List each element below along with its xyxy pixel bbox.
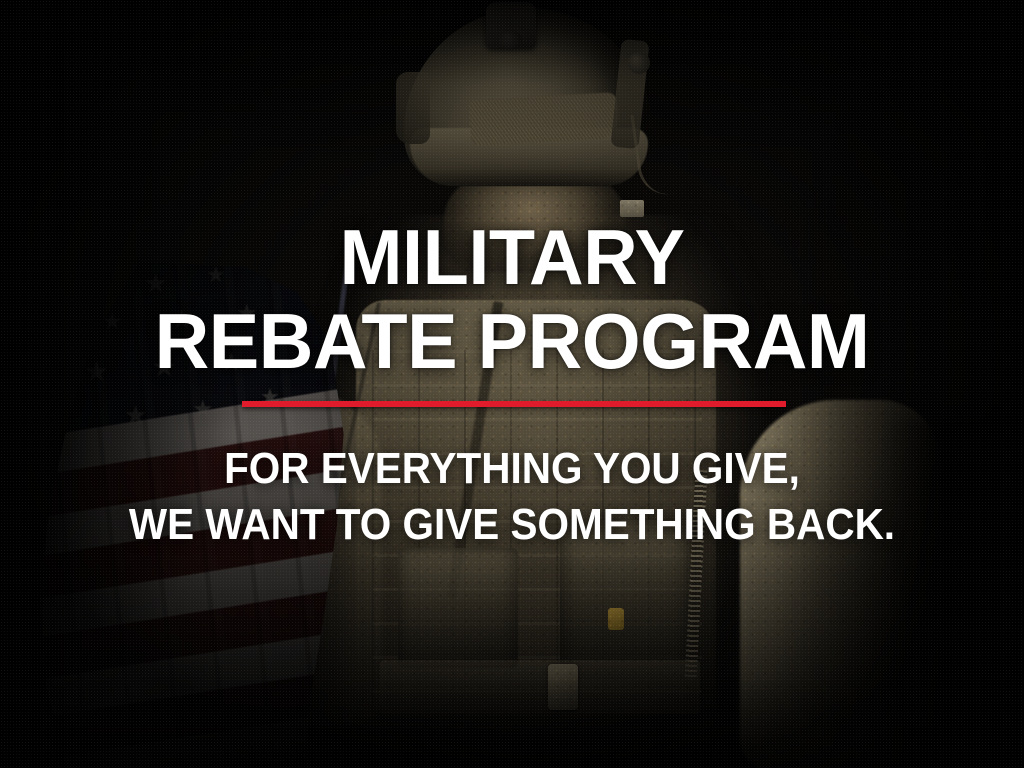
subhead-line-2: WE WANT TO GIVE SOMETHING BACK. [41, 502, 983, 548]
red-divider-rule [242, 401, 786, 407]
text-overlay: MILITARY REBATE PROGRAM FOR EVERYTHING Y… [0, 0, 1024, 768]
headline-line-1: MILITARY [15, 218, 1008, 296]
promo-slide: ★ ★ ★ ★ ★ ★ ★ ★ ★ ★ ★ MILITARY REBATE PR… [0, 0, 1024, 768]
subhead-line-1: FOR EVERYTHING YOU GIVE, [41, 446, 983, 492]
headline-line-2: REBATE PROGRAM [15, 302, 1008, 380]
